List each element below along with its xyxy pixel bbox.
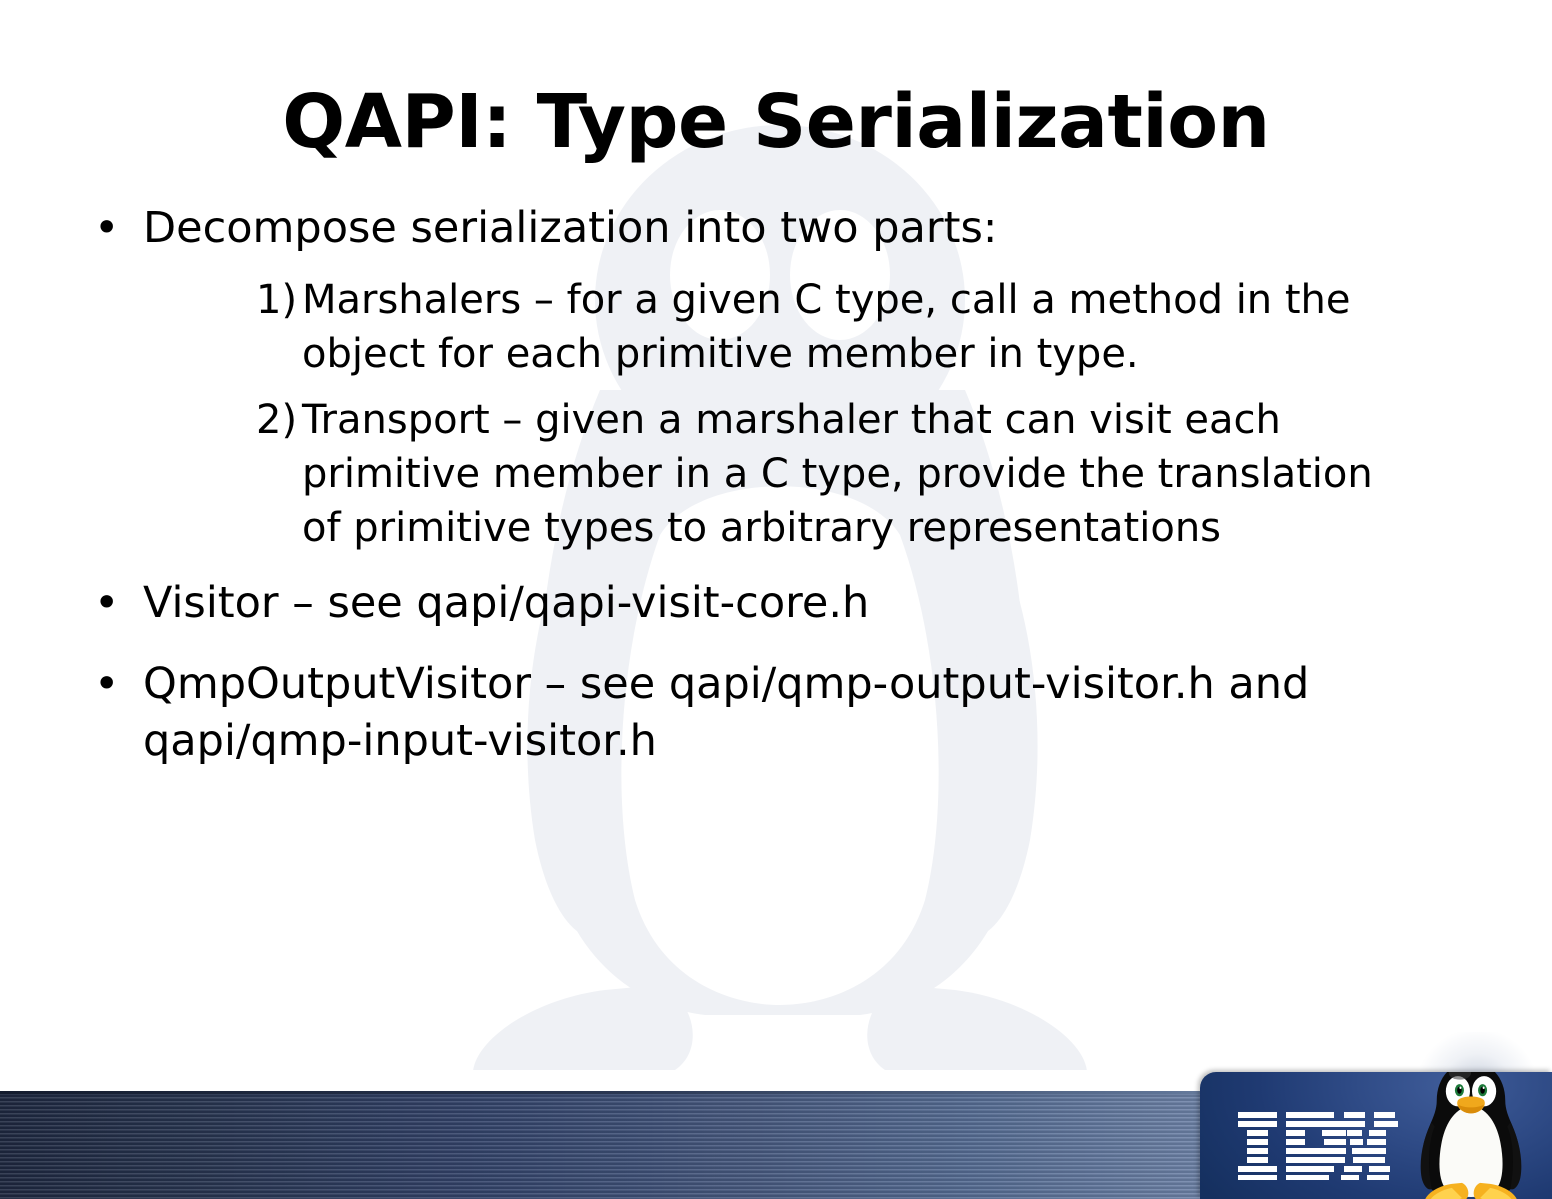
numbered-item-transport-label: Transport – given a marshaler that can v… bbox=[302, 397, 1373, 551]
bullet-item-decompose-label: Decompose serialization into two parts: bbox=[143, 203, 997, 253]
spacer bbox=[80, 383, 1400, 393]
tux-penguin-icon bbox=[1405, 1072, 1537, 1199]
numbered-item-transport-marker: 2) bbox=[256, 393, 297, 447]
spacer bbox=[80, 557, 1400, 575]
spacer bbox=[80, 263, 1400, 273]
bullet-dot-icon: • bbox=[94, 656, 119, 713]
numbered-item-marshalers-label: Marshalers – for a given C type, call a … bbox=[302, 277, 1351, 377]
bullet-dot-icon: • bbox=[94, 200, 119, 257]
numbered-item-marshalers-marker: 1) bbox=[256, 273, 297, 327]
logo-panel bbox=[1200, 1072, 1552, 1199]
spacer bbox=[80, 638, 1400, 656]
bullet-dot-icon: • bbox=[94, 575, 119, 632]
bullet-item-qmpoutputvisitor-label: QmpOutputVisitor – see qapi/qmp-output-v… bbox=[143, 659, 1309, 766]
numbered-item-marshalers: 1) Marshalers – for a given C type, call… bbox=[256, 273, 1412, 381]
slide-title: QAPI: Type Serialization bbox=[0, 78, 1552, 166]
numbered-item-transport: 2) Transport – given a marshaler that ca… bbox=[256, 393, 1412, 555]
bullet-item-decompose: • Decompose serialization into two parts… bbox=[80, 200, 1400, 257]
bullet-item-qmpoutputvisitor: • QmpOutputVisitor – see qapi/qmp-output… bbox=[80, 656, 1400, 770]
bullet-item-visitor-label: Visitor – see qapi/qapi-visit-core.h bbox=[143, 578, 869, 628]
ibm-logo-icon bbox=[1238, 1112, 1403, 1180]
slide-body: • Decompose serialization into two parts… bbox=[80, 200, 1400, 776]
bullet-item-visitor: • Visitor – see qapi/qapi-visit-core.h bbox=[80, 575, 1400, 632]
presentation-slide: QAPI: Type Serialization • Decompose ser… bbox=[0, 0, 1552, 1199]
